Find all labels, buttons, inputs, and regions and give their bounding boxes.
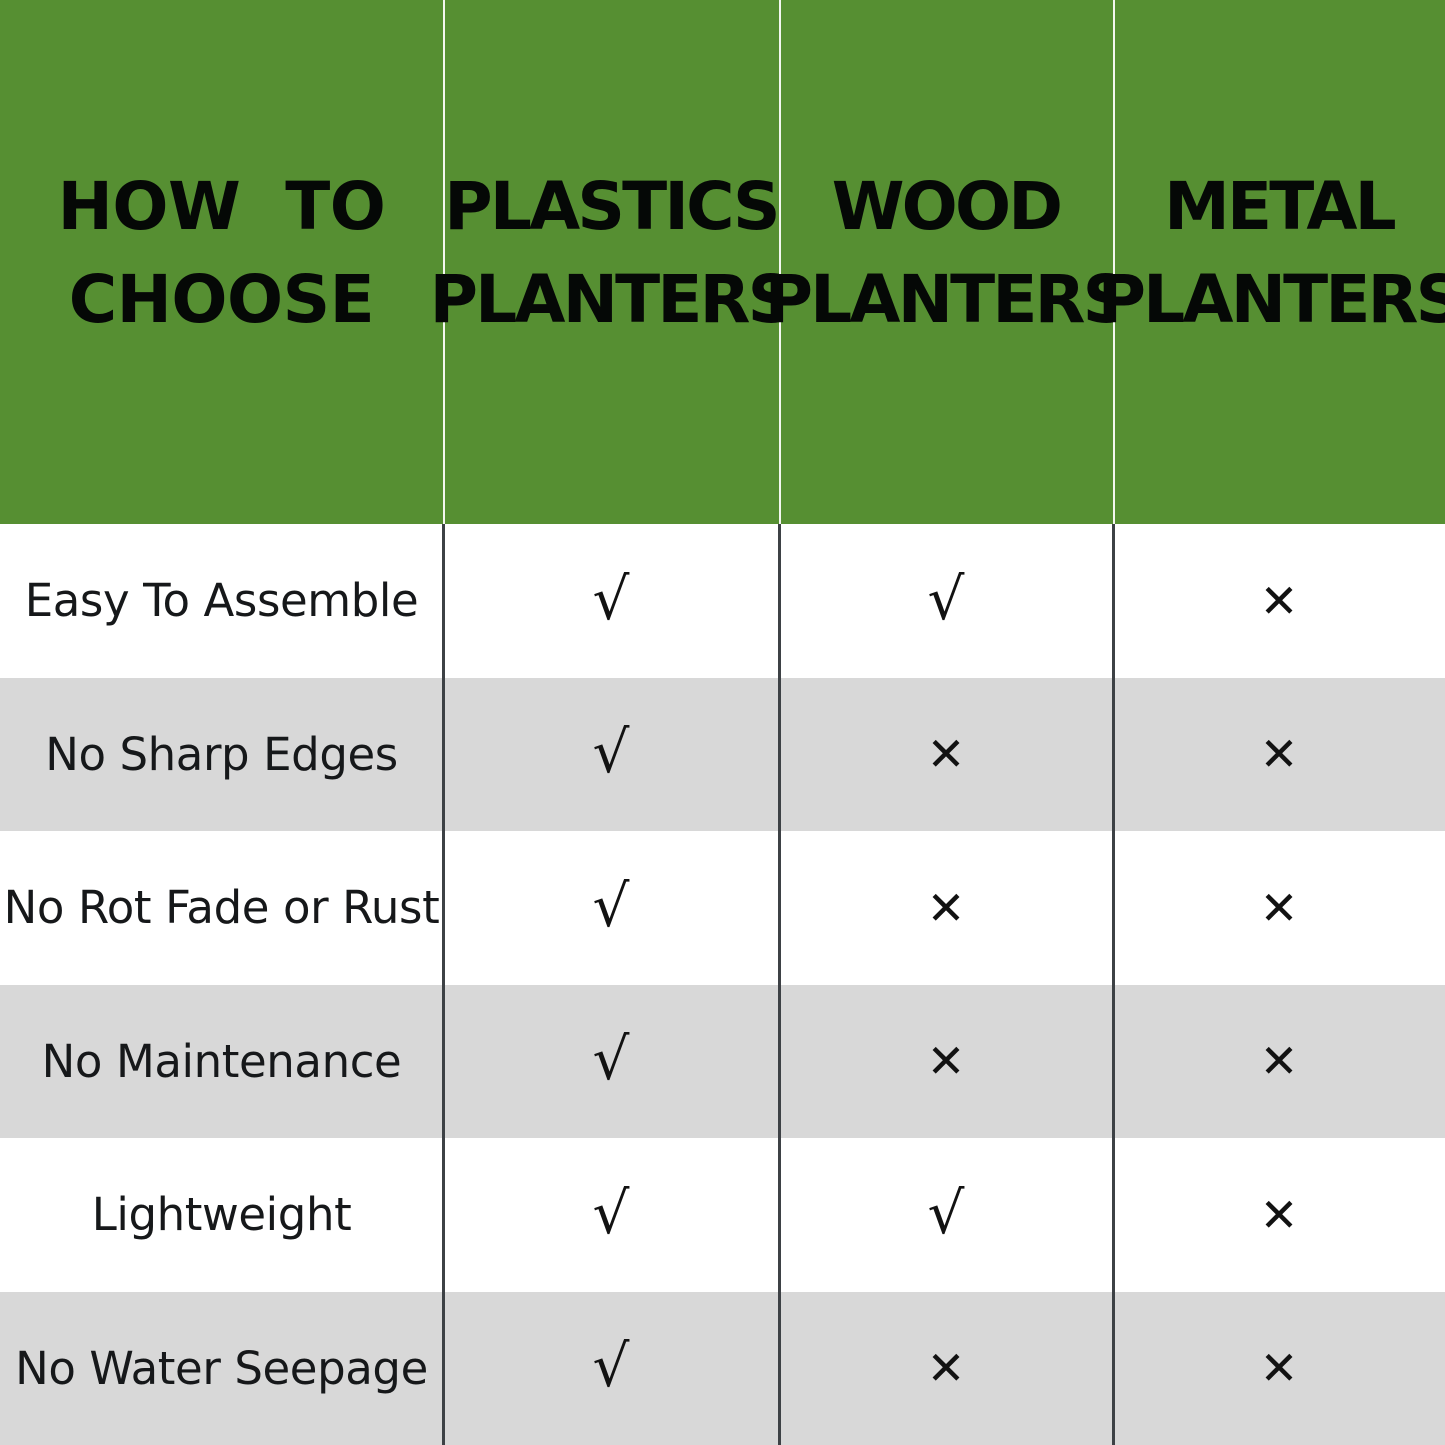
- table-body: Easy To Assemble √ √ ✕ No Sharp Edges √ …: [0, 524, 1445, 1445]
- row-label: Lightweight: [92, 1192, 352, 1237]
- header-cell-how-to-choose: HOW TOCHOOSE: [0, 0, 443, 524]
- row-label-cell: Easy To Assemble: [0, 524, 443, 678]
- check-icon: √: [593, 877, 630, 935]
- table-row: No Rot Fade or Rust √ ✕ ✕: [0, 831, 1445, 985]
- row-label: No Sharp Edges: [45, 732, 398, 777]
- header-line-1: HOW TO: [58, 168, 386, 245]
- check-icon: √: [593, 1184, 630, 1242]
- table-row: No Maintenance √ ✕ ✕: [0, 985, 1445, 1139]
- cell-wood: √: [779, 1138, 1113, 1292]
- header-cell-metal-planters: METALPLANTERS: [1113, 0, 1445, 524]
- table-row: No Water Seepage √ ✕ ✕: [0, 1292, 1445, 1445]
- header-label-metal-planters: METALPLANTERS: [1098, 160, 1445, 346]
- row-label-cell: Lightweight: [0, 1138, 443, 1292]
- row-label: No Water Seepage: [15, 1346, 428, 1391]
- header-label-how-to-choose: HOW TOCHOOSE: [58, 160, 386, 346]
- header-cell-wood-planters: WOODPLANTERS: [779, 0, 1113, 524]
- header-label-plastics-planters: PLASTICSPLANTERS: [430, 160, 793, 346]
- cross-icon: ✕: [927, 885, 966, 931]
- header-line-1: WOOD: [832, 168, 1061, 245]
- cell-wood: ✕: [779, 1292, 1113, 1445]
- cross-icon: ✕: [927, 731, 966, 777]
- table-row: Easy To Assemble √ √ ✕: [0, 524, 1445, 678]
- cell-plastics: √: [443, 524, 779, 678]
- row-label: No Maintenance: [42, 1039, 402, 1084]
- cell-metal: ✕: [1113, 678, 1445, 832]
- cell-plastics: √: [443, 1292, 779, 1445]
- check-icon: √: [593, 570, 630, 628]
- row-label-cell: No Water Seepage: [0, 1292, 443, 1445]
- cell-metal: ✕: [1113, 1292, 1445, 1445]
- cross-icon: ✕: [927, 1038, 966, 1084]
- cell-wood: ✕: [779, 985, 1113, 1139]
- table-row: Lightweight √ √ ✕: [0, 1138, 1445, 1292]
- header-line-2: PLANTERS: [430, 261, 793, 338]
- cell-metal: ✕: [1113, 1138, 1445, 1292]
- check-icon: √: [928, 570, 965, 628]
- header-line-1: METAL: [1164, 168, 1394, 245]
- header-label-wood-planters: WOODPLANTERS: [765, 160, 1128, 346]
- row-label-cell: No Rot Fade or Rust: [0, 831, 443, 985]
- header-line-1: PLASTICS: [444, 168, 777, 245]
- cell-plastics: √: [443, 831, 779, 985]
- cell-metal: ✕: [1113, 831, 1445, 985]
- header-cell-plastics-planters: PLASTICSPLANTERS: [443, 0, 779, 524]
- cell-plastics: √: [443, 1138, 779, 1292]
- cross-icon: ✕: [1260, 578, 1299, 624]
- table-row: No Sharp Edges √ ✕ ✕: [0, 678, 1445, 832]
- cross-icon: ✕: [927, 1345, 966, 1391]
- header-line-2: PLANTERS: [765, 261, 1128, 338]
- row-label-cell: No Maintenance: [0, 985, 443, 1139]
- cell-plastics: √: [443, 678, 779, 832]
- cell-wood: ✕: [779, 831, 1113, 985]
- cell-plastics: √: [443, 985, 779, 1139]
- check-icon: √: [593, 1030, 630, 1088]
- check-icon: √: [593, 1337, 630, 1395]
- cell-metal: ✕: [1113, 985, 1445, 1139]
- row-label: No Rot Fade or Rust: [4, 885, 440, 930]
- header-line-2: CHOOSE: [69, 261, 375, 338]
- check-icon: √: [928, 1184, 965, 1242]
- header-line-2: PLANTERS: [1098, 261, 1445, 338]
- row-label: Easy To Assemble: [25, 578, 419, 623]
- cell-metal: ✕: [1113, 524, 1445, 678]
- row-label-cell: No Sharp Edges: [0, 678, 443, 832]
- comparison-table: HOW TOCHOOSE PLASTICSPLANTERS WOODPLANTE…: [0, 0, 1445, 1445]
- cross-icon: ✕: [1260, 1192, 1299, 1238]
- cross-icon: ✕: [1260, 1345, 1299, 1391]
- cell-wood: √: [779, 524, 1113, 678]
- cross-icon: ✕: [1260, 1038, 1299, 1084]
- cross-icon: ✕: [1260, 885, 1299, 931]
- cell-wood: ✕: [779, 678, 1113, 832]
- cross-icon: ✕: [1260, 731, 1299, 777]
- check-icon: √: [593, 723, 630, 781]
- table-header-row: HOW TOCHOOSE PLASTICSPLANTERS WOODPLANTE…: [0, 0, 1445, 524]
